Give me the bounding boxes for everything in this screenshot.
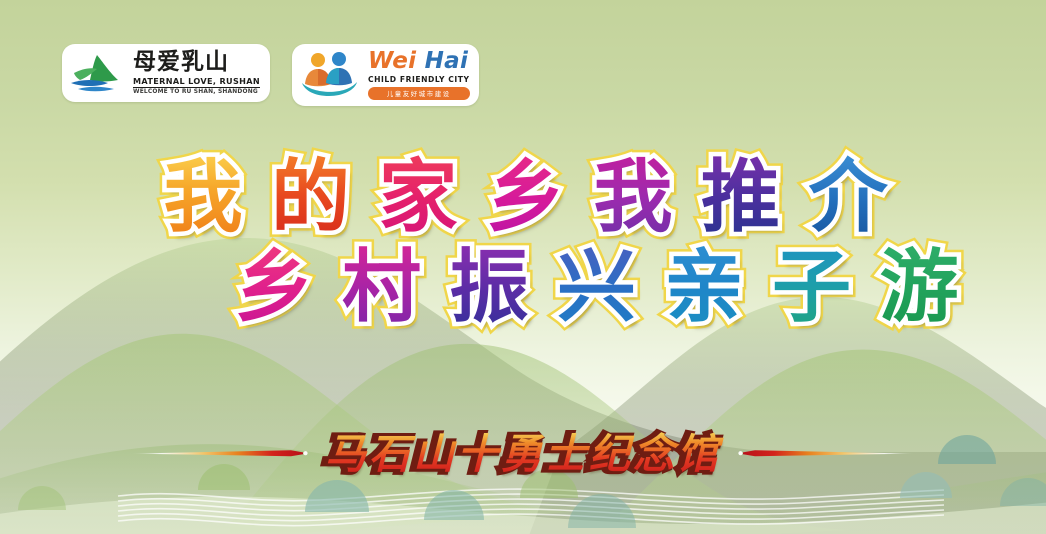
title-glyph: 振振振 bbox=[449, 248, 529, 327]
weihai-name: Wei Hai bbox=[368, 50, 470, 73]
logo-rushan: 母爱乳山 MATERNAL LOVE, RUSHAN WELCOME TO RU… bbox=[62, 44, 270, 102]
banner-text-wrap: 马石山十勇士纪念馆 马石山十勇士纪念馆 bbox=[309, 434, 737, 475]
logo-weihai: Wei Hai CHILD FRIENDLY CITY 儿童友好城市建设 bbox=[292, 44, 479, 106]
weihai-subtitle: CHILD FRIENDLY CITY bbox=[368, 75, 470, 84]
main-title: 我我我 的的的 家家家 乡乡乡 我我我 推推推 介介介 乡乡乡 村村村 振振振 … bbox=[0, 158, 1046, 327]
title-glyph: 游游游 bbox=[880, 248, 960, 327]
logo-row: 母爱乳山 MATERNAL LOVE, RUSHAN WELCOME TO RU… bbox=[62, 44, 479, 106]
weihai-pill-text: 儿童友好城市建设 bbox=[368, 87, 470, 100]
title-glyph: 子子子 bbox=[772, 248, 852, 327]
title-glyph: 兴兴兴 bbox=[557, 248, 637, 327]
title-glyph: 村村村 bbox=[342, 248, 422, 327]
title-glyph: 亲亲亲 bbox=[665, 248, 745, 327]
rushan-en-line2: WELCOME TO RU SHAN, SHANDONG bbox=[133, 89, 260, 95]
title-glyph: 我我我 bbox=[163, 158, 243, 237]
rushan-en-line1: MATERNAL LOVE, RUSHAN bbox=[133, 76, 260, 88]
weihai-name-part1: Wei bbox=[368, 48, 416, 74]
title-glyph: 推推推 bbox=[701, 158, 781, 237]
two-children-icon bbox=[299, 50, 361, 100]
banner-text: 马石山十勇士纪念馆 bbox=[313, 430, 733, 478]
title-glyph: 乡乡乡 bbox=[234, 248, 314, 327]
mountain-wave-icon bbox=[68, 49, 126, 97]
title-line-1: 我我我 的的的 家家家 乡乡乡 我我我 推推推 介介介 bbox=[0, 158, 1046, 237]
title-glyph: 乡乡乡 bbox=[486, 158, 566, 237]
tapered-line-ornament-right bbox=[737, 442, 917, 468]
rushan-cn-name: 母爱乳山 bbox=[133, 51, 260, 74]
title-glyph: 我我我 bbox=[594, 158, 674, 237]
title-glyph: 介介介 bbox=[809, 158, 889, 237]
title-glyph: 的的的 bbox=[271, 158, 351, 237]
bottom-banner: 马石山十勇士纪念馆 马石山十勇士纪念馆 bbox=[0, 434, 1046, 475]
title-line-2: 乡乡乡 村村村 振振振 兴兴兴 亲亲亲 子子子 游游游 bbox=[0, 248, 1046, 327]
title-glyph: 家家家 bbox=[378, 158, 458, 237]
title-card: 母爱乳山 MATERNAL LOVE, RUSHAN WELCOME TO RU… bbox=[0, 0, 1046, 534]
tapered-line-ornament-left bbox=[129, 442, 309, 468]
weihai-name-part2: Hai bbox=[425, 48, 469, 74]
